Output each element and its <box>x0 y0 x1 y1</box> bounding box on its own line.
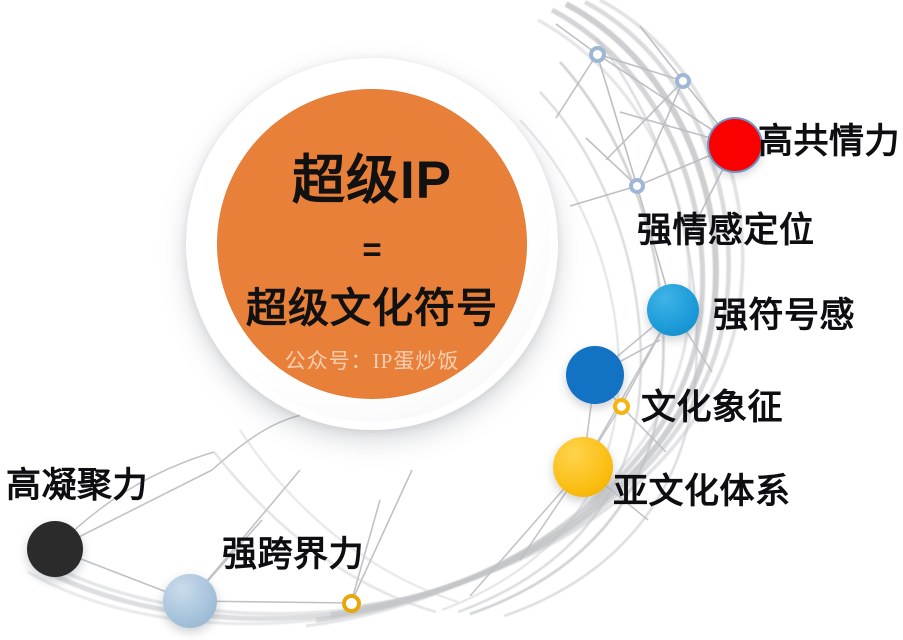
node-crossover-marker[interactable] <box>342 594 361 613</box>
node-label-cohesion: 高凝聚力 <box>6 468 148 503</box>
node-subculture[interactable] <box>553 437 613 497</box>
node-label-cultural-symbol: 文化象征 <box>641 390 783 425</box>
node-crossover[interactable] <box>163 574 217 628</box>
node-cohesion[interactable] <box>27 521 83 577</box>
node-label-emotional-position: 强情感定位 <box>637 213 815 248</box>
node-label-subculture: 亚文化体系 <box>613 474 791 509</box>
hub-title: 超级IP <box>292 154 452 207</box>
node-symbol-sense[interactable] <box>647 284 699 336</box>
node-label-symbol-sense: 强符号感 <box>713 298 855 333</box>
node-cultural-symbol-marker[interactable] <box>613 398 630 415</box>
hub-core-circle: 超级IP = 超级文化符号 公众号：IP蛋炒饭 <box>217 89 527 399</box>
node-empathy[interactable] <box>709 119 761 171</box>
node-emotional-position[interactable] <box>629 178 645 194</box>
node-satellite-top-left[interactable] <box>589 46 606 63</box>
mesh-thin-lines-left-arm <box>55 414 412 603</box>
node-label-crossover: 强跨界力 <box>222 537 364 572</box>
arc-behind-hub <box>214 430 458 612</box>
node-label-empathy: 高共情力 <box>758 124 900 159</box>
node-satellite-top-right[interactable] <box>675 73 691 89</box>
infographic-canvas: 超级IP = 超级文化符号 公众号：IP蛋炒饭 高共情力强情感定位强符号感文化象… <box>0 0 903 640</box>
node-cultural-symbol[interactable] <box>566 346 624 404</box>
hub-subtitle: 超级文化符号 <box>246 288 498 329</box>
hub-equals-sign: = <box>362 233 381 266</box>
